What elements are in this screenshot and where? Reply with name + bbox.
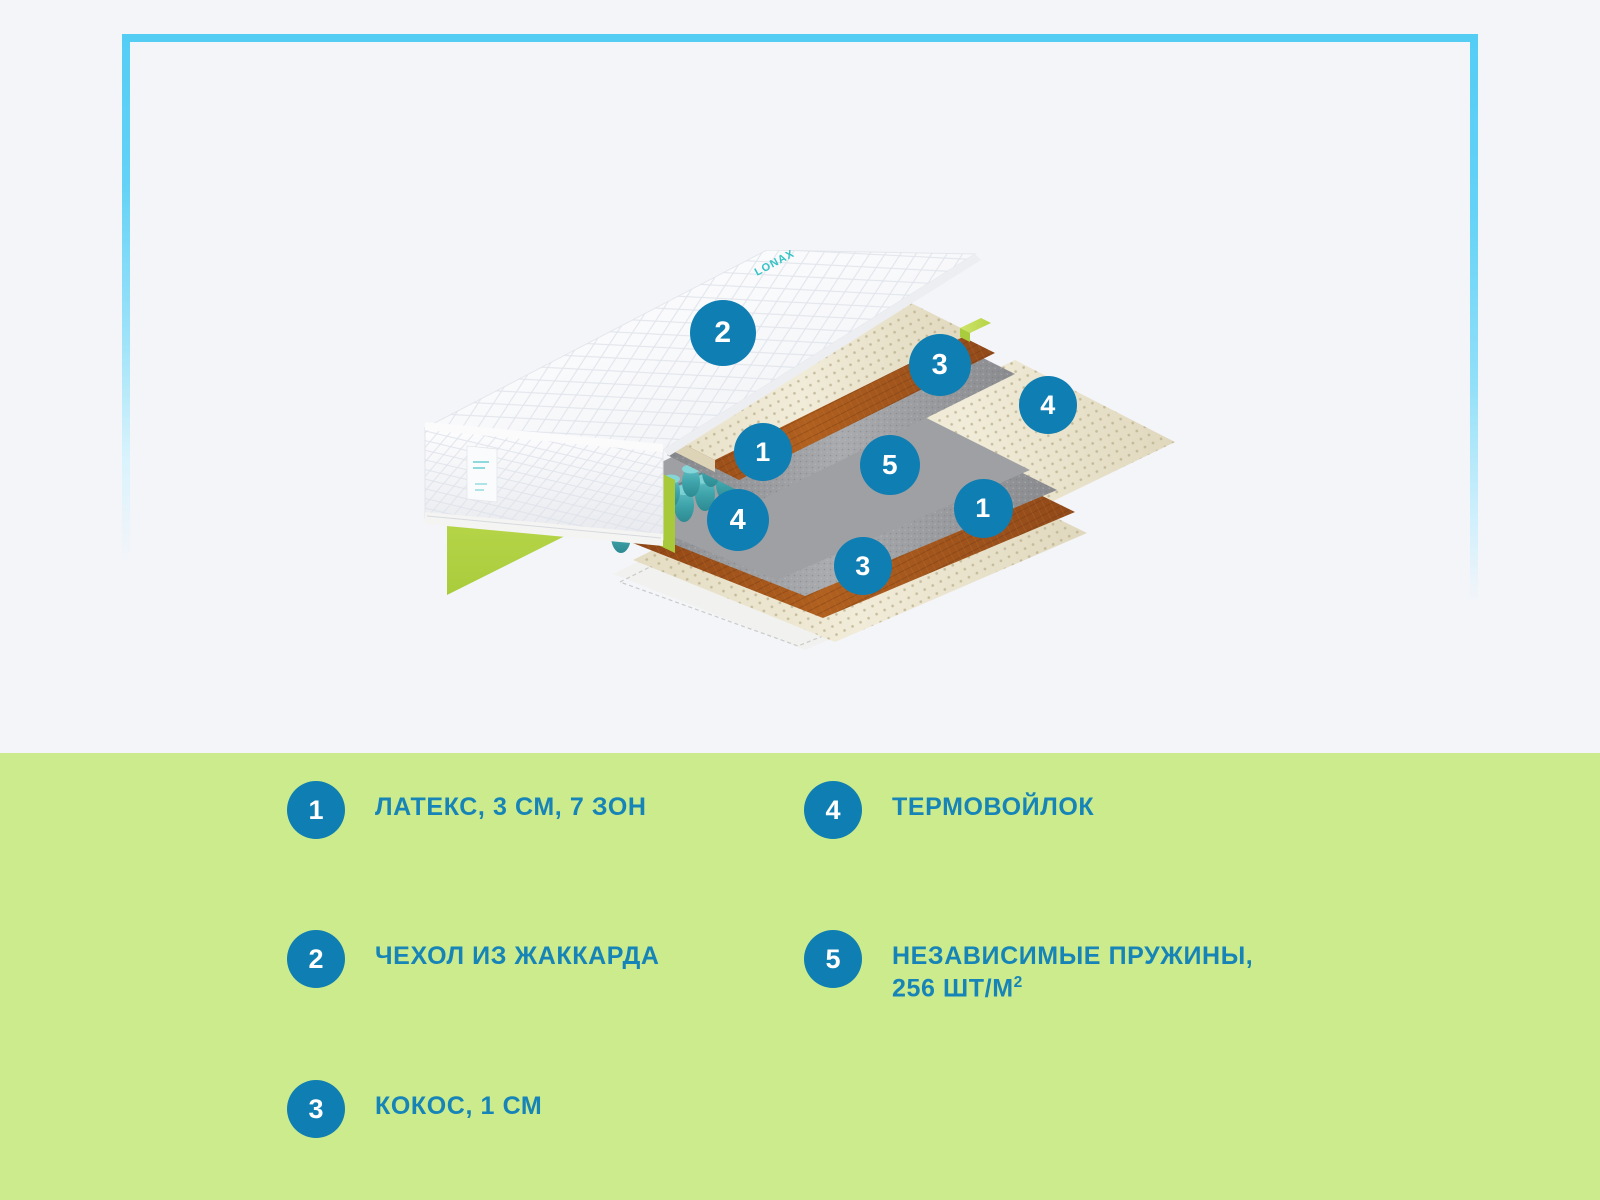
legend-item-3[interactable]: 3КОКОС, 1 СМ — [287, 1080, 542, 1138]
frame-border-right — [1470, 34, 1478, 604]
legend-item-4[interactable]: 4ТЕРМОВОЙЛОК — [804, 781, 1094, 839]
callout-badge-2[interactable]: 2 — [690, 300, 756, 366]
legend-badge-3: 3 — [287, 1080, 345, 1138]
legend-label-5: НЕЗАВИСИМЫЕ ПРУЖИНЫ,256 ШТ/М2 — [892, 930, 1253, 1004]
legend-item-1[interactable]: 1ЛАТЕКС, 3 СМ, 7 ЗОН — [287, 781, 647, 839]
frame-border-top — [122, 34, 1478, 42]
frame-border-left — [122, 34, 130, 564]
legend-badge-2: 2 — [287, 930, 345, 988]
legend-band: 1ЛАТЕКС, 3 СМ, 7 ЗОН2ЧЕХОЛ ИЗ ЖАККАРДА3К… — [0, 753, 1600, 1200]
legend-badge-4: 4 — [804, 781, 862, 839]
callout-badge-1[interactable]: 1 — [734, 423, 792, 481]
legend-label-4: ТЕРМОВОЙЛОК — [892, 781, 1094, 824]
mattress-illustration: LONAX — [415, 250, 1175, 650]
legend-badge-1: 1 — [287, 781, 345, 839]
callout-badge-4[interactable]: 4 — [707, 489, 769, 551]
legend-label-2: ЧЕХОЛ ИЗ ЖАККАРДА — [375, 930, 660, 973]
legend-label-1: ЛАТЕКС, 3 СМ, 7 ЗОН — [375, 781, 647, 824]
hero-panel: LONAX 23415143 — [0, 0, 1600, 753]
callout-badge-1[interactable]: 1 — [954, 479, 1013, 538]
cover-side-tag — [467, 446, 497, 502]
legend-item-2[interactable]: 2ЧЕХОЛ ИЗ ЖАККАРДА — [287, 930, 660, 988]
callout-badge-5[interactable]: 5 — [860, 435, 920, 495]
legend-item-5[interactable]: 5НЕЗАВИСИМЫЕ ПРУЖИНЫ,256 ШТ/М2 — [804, 930, 1253, 1004]
mattress-cutaway-svg: LONAX — [415, 250, 1175, 650]
legend-badge-5: 5 — [804, 930, 862, 988]
callout-badge-4[interactable]: 4 — [1019, 376, 1077, 434]
legend-label-3: КОКОС, 1 СМ — [375, 1080, 542, 1123]
callout-badge-3[interactable]: 3 — [909, 334, 971, 396]
callout-badge-3[interactable]: 3 — [834, 537, 892, 595]
